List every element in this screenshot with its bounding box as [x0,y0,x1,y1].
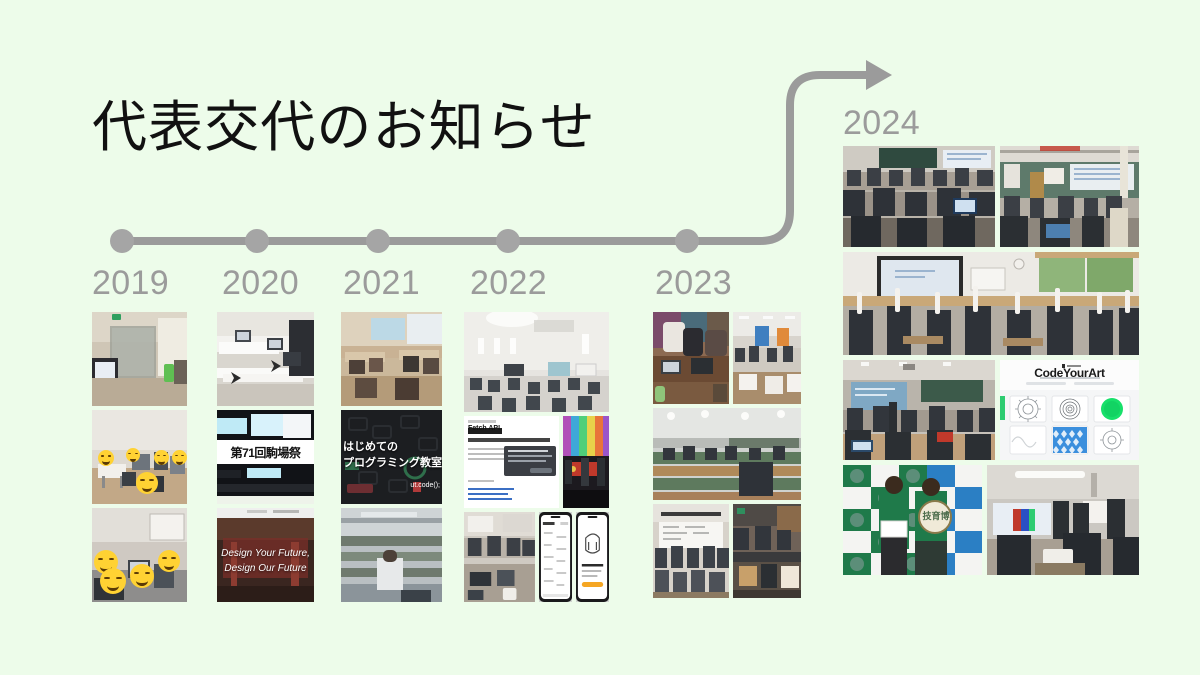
photo-caption-komabasai: 第71回駒場祭 [217,444,314,461]
privacy-emoji [172,450,187,465]
timeline-dot-2021 [366,229,390,253]
year-label-2019: 2019 [92,264,169,303]
photo-2023-open-workspace [733,312,801,404]
photo-2024-demo-presentation [987,465,1139,575]
photo-2023-lecture-room [653,408,801,500]
privacy-emoji [130,564,154,588]
privacy-emoji [98,450,114,466]
photo-column-2022: Fetch API [464,312,609,602]
photo-row-2023-bottom [653,504,801,598]
year-label-2022: 2022 [470,264,547,303]
photo-2022-app-screen-1 [539,512,572,602]
year-label-2024: 2024 [843,104,920,143]
timeline-dot-2023 [675,229,699,253]
photo-column-2023 [653,312,801,598]
photo-2023-group-photo [653,504,729,598]
timeline-dot-2022 [496,229,520,253]
privacy-emoji [136,472,158,494]
photo-2022-award-stage [563,416,609,508]
photo-row-2022-bottom [464,512,609,602]
photo-2023-party [733,504,801,598]
photo-2023-mentoring [653,312,729,404]
timeline-dot-2019 [110,229,134,253]
collage-row-1 [843,146,1139,247]
photo-caption-utcode-logo: ut.code(); [341,482,440,489]
photo-2024-lecture-laptops [843,146,995,247]
photo-2021-programming-course: はじめての プログラミング教室 ut.code(); [341,410,442,504]
timeline-dot-2020 [245,229,269,253]
photo-caption-design-2: Design Our Future [217,563,314,574]
year-label-2021: 2021 [343,264,420,303]
page-title: 代表交代のお知らせ [92,96,596,159]
collage-row-4: 技育博 [843,465,1139,575]
photo-2020-komabasai-banner: 第71回駒場祭 [217,410,314,504]
privacy-emoji [154,450,169,465]
photo-2024-classroom-projector [843,360,995,460]
photo-collage-2024: CodeYourArt [843,146,1139,600]
photo-2024-hands-raised [843,252,1139,355]
photo-2019-lobby-laptop [92,312,187,406]
photo-2022-app-screen-2 [576,512,609,602]
photo-2022-big-hall [464,312,609,412]
photo-column-2021: はじめての プログラミング教室 ut.code(); [341,312,442,602]
photo-row-2022-middle: Fetch API [464,416,609,508]
slide-root: 代表交代のお知らせ 2019 2020 2021 2022 2023 2024 [0,0,1200,675]
privacy-emoji [126,448,140,462]
privacy-emoji [100,568,126,594]
photo-2020-design-your-future: Design Your Future, Design Our Future [217,508,314,602]
privacy-emoji [158,550,180,572]
codeyourart-site-title: CodeYourArt [1000,366,1139,380]
photo-caption-programming-1: はじめての [343,438,442,454]
collage-row-3: CodeYourArt [843,360,1139,460]
photo-2020-pc-room [217,312,314,406]
photo-row-2023-top [653,312,801,404]
photo-2019-group-work [92,508,187,602]
photo-2024-science-room [1000,146,1139,247]
photo-2022-fetch-api-article: Fetch API [464,416,559,508]
photo-column-2019 [92,312,187,602]
photo-2021-workshop-room [341,312,442,406]
photo-caption-design-1: Design Your Future, [217,548,314,559]
photo-2024-codeyourart-site: CodeYourArt [1000,360,1139,460]
photo-caption-programming-2: プログラミング教室 [343,454,442,470]
photo-column-2020: 第71回駒場祭 Design Your Future, Design Our F… [217,312,314,602]
photo-caption-fetch-api: Fetch API [468,425,559,432]
photo-2019-classroom-session [92,410,187,504]
photo-2024-award-ceremony: 技育博 [843,465,982,575]
timeline-arrowhead [866,60,892,90]
year-label-2020: 2020 [222,264,299,303]
award-board-text: 技育博 [919,509,953,522]
photo-2021-lecture-hall [341,508,442,602]
photo-2022-meetup [464,512,535,602]
year-label-2023: 2023 [655,264,732,303]
